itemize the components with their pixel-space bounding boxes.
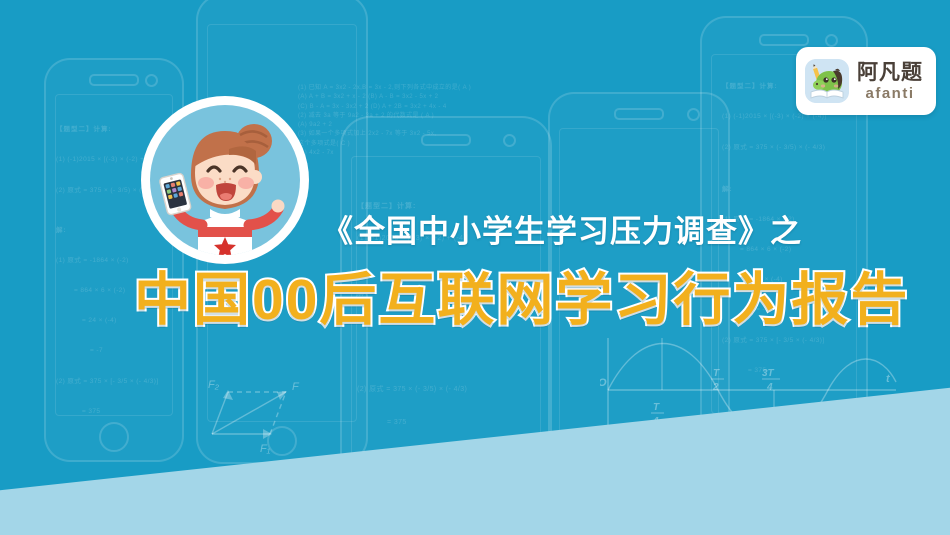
brand-logo[interactable]: 阿凡题 afanti: [796, 47, 936, 115]
tick-label-3t-over-4: 3T: [762, 368, 775, 379]
brand-name-en: afanti: [857, 86, 923, 101]
force-label-f2: F₂: [208, 379, 220, 391]
force-parallelogram-diagram: F₂ F F₁: [190, 352, 340, 457]
axis-label-t: t: [886, 373, 891, 385]
page-title: 中国00后互联网学习行为报告: [134, 254, 909, 336]
brand-name-cn: 阿凡题: [857, 62, 923, 83]
axis-label-origin: O: [600, 377, 607, 389]
svg-text:2: 2: [712, 382, 719, 393]
subtitle: 《全国中小学生学习压力调查》之: [322, 206, 802, 251]
phone-camera-icon: [145, 74, 158, 87]
force-label-f: F: [292, 381, 300, 393]
tick-label-t-over-2: T: [713, 368, 720, 379]
cartoon-girl-with-smartphone-illustration: [150, 105, 300, 255]
slide-canvas: 【题型二】计算: (1) (-1)2015 × [(-3) × (-2) + (…: [0, 0, 950, 535]
phone-camera-icon: [687, 108, 700, 121]
avatar: [141, 96, 309, 264]
phone-home-button: [99, 422, 129, 452]
tick-label-t-over-4: T: [653, 402, 660, 413]
phone-camera-icon: [503, 134, 516, 147]
svg-text:4: 4: [766, 382, 773, 393]
phone-camera-icon: [825, 34, 838, 47]
phone-speaker-icon: [421, 134, 471, 146]
force-label-f1: F₁: [260, 443, 271, 455]
phone-speaker-icon: [89, 74, 139, 86]
phone-speaker-icon: [759, 34, 809, 46]
phone-speaker-icon: [614, 108, 664, 120]
brand-text: 阿凡题 afanti: [857, 62, 923, 101]
green-dinosaur-mascot-icon: [805, 59, 849, 103]
